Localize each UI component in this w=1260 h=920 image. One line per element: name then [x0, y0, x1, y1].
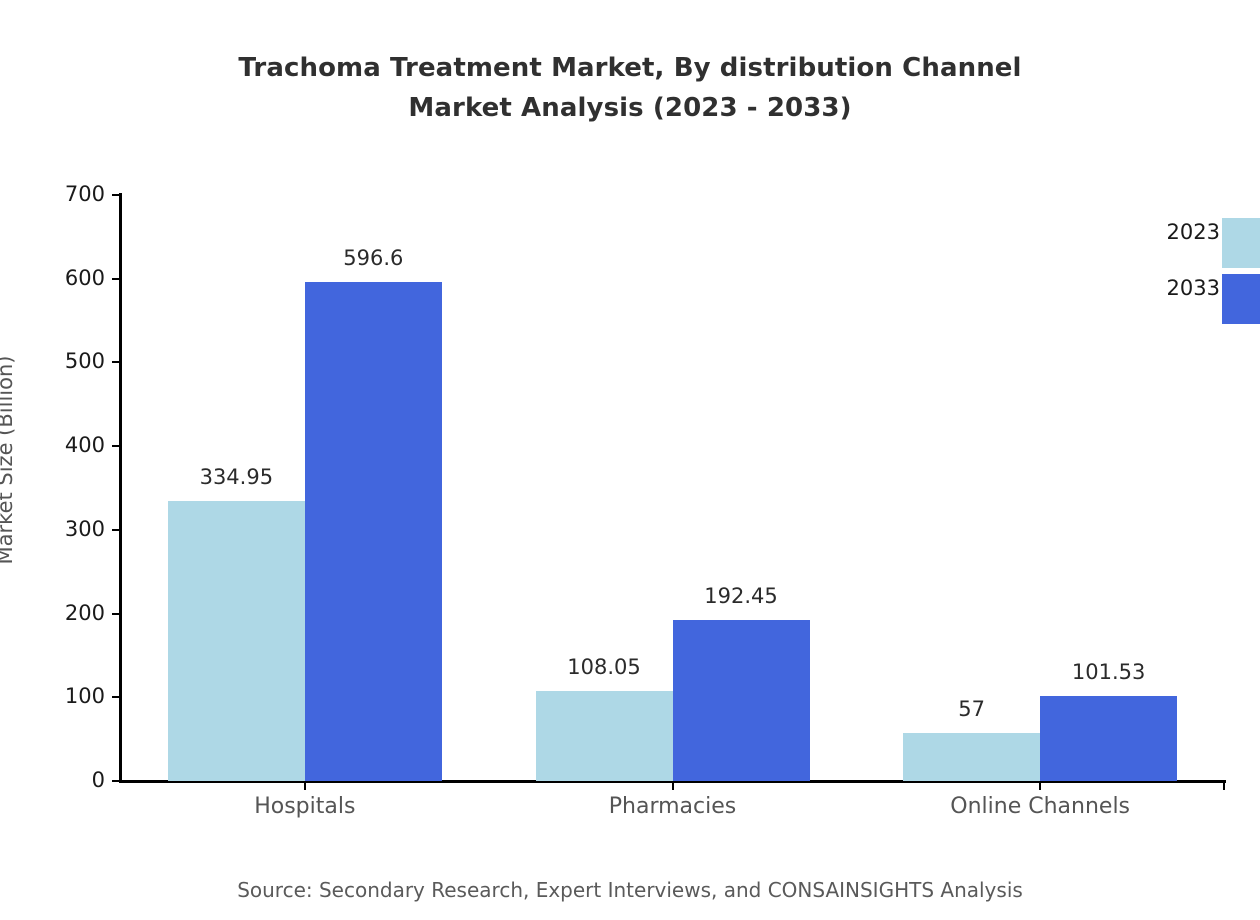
bar-pharmacies-2033[interactable]: [673, 620, 810, 781]
bar-hospitals-2023[interactable]: [168, 501, 305, 781]
y-axis-tick-mark: [112, 780, 121, 782]
y-axis-title: Market Size (Billion): [0, 10, 17, 910]
bar-online-channels-2023[interactable]: [903, 733, 1040, 781]
y-axis-tick-label: 300: [65, 517, 105, 541]
bar-value-label: 101.53: [999, 660, 1219, 684]
x-axis-tick-mark: [304, 781, 306, 790]
bar-value-label: 192.45: [631, 584, 851, 608]
legend-item-2033[interactable]: 2033: [1130, 274, 1260, 330]
chart-title: Trachoma Treatment Market, By distributi…: [0, 48, 1260, 128]
y-axis-tick-mark: [112, 613, 121, 615]
legend-item-2023[interactable]: 2023: [1130, 218, 1260, 274]
y-axis-tick-label: 200: [65, 601, 105, 625]
x-axis-category-label-pharmacies: Pharmacies: [513, 794, 833, 819]
x-axis-tick-mark: [672, 781, 674, 790]
y-axis-tick-label: 100: [65, 684, 105, 708]
legend-label: 2033: [1167, 276, 1220, 300]
bar-value-label: 596.6: [263, 246, 483, 270]
legend-swatch: [1222, 218, 1260, 268]
chart-legend: 20232033: [1130, 218, 1260, 330]
y-axis-tick-label: 400: [65, 433, 105, 457]
y-axis-tick-mark: [112, 696, 121, 698]
y-axis-tick-label: 600: [65, 266, 105, 290]
chart-title-line-2: Market Analysis (2023 - 2033): [0, 88, 1260, 128]
y-axis-tick-mark: [112, 445, 121, 447]
x-axis-category-label-hospitals: Hospitals: [145, 794, 465, 819]
chart-title-line-1: Trachoma Treatment Market, By distributi…: [0, 48, 1260, 88]
y-axis-tick-mark: [112, 529, 121, 531]
x-axis-end-tick: [1223, 781, 1225, 790]
y-axis-tick-label: 0: [92, 768, 105, 792]
bar-hospitals-2033[interactable]: [305, 282, 442, 781]
source-note: Source: Secondary Research, Expert Inter…: [0, 878, 1260, 902]
plot-area: 334.95596.6108.05192.4557101.53: [121, 195, 1224, 781]
bar-pharmacies-2023[interactable]: [536, 691, 673, 781]
legend-swatch: [1222, 274, 1260, 324]
x-axis-tick-mark: [1039, 781, 1041, 790]
x-axis-category-label-online-channels: Online Channels: [880, 794, 1200, 819]
y-axis-tick-mark: [112, 361, 121, 363]
y-axis-tick-mark: [112, 278, 121, 280]
y-axis-tick-label: 500: [65, 349, 105, 373]
legend-label: 2023: [1167, 220, 1220, 244]
bar-online-channels-2033[interactable]: [1040, 696, 1177, 781]
y-axis-tick-mark: [112, 194, 121, 196]
y-axis-tick-label: 700: [65, 182, 105, 206]
